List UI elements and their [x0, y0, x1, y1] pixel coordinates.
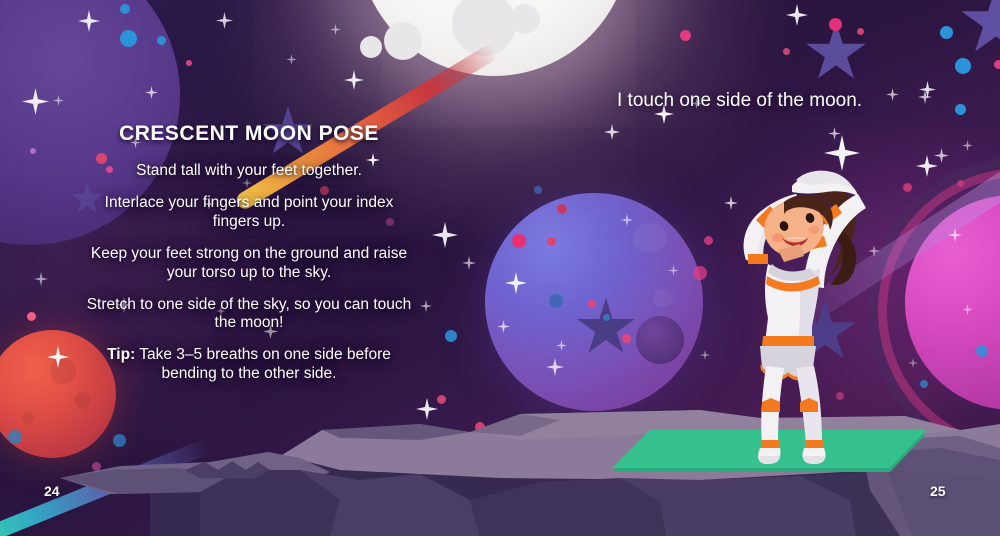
book-spread-page: CRESCENT MOON POSE Stand tall with your … [0, 0, 1000, 536]
tip-label: Tip: [107, 346, 135, 363]
pose-text-panel: CRESCENT MOON POSE Stand tall with your … [84, 122, 414, 384]
pose-instruction: Interlace your fingers and point your in… [84, 194, 414, 232]
pose-instruction: Keep your feet strong on the ground and … [84, 245, 414, 283]
page-caption: I touch one side of the moon. [617, 90, 947, 112]
pose-title: CRESCENT MOON POSE [84, 122, 414, 146]
pose-tip: Tip: Take 3–5 breaths on one side before… [84, 346, 414, 384]
waist-band [762, 336, 814, 346]
tip-text: Take 3–5 breaths on one side before bend… [135, 346, 391, 382]
yoga-character [700, 168, 890, 468]
page-number-left: 24 [44, 483, 60, 499]
pose-instruction: Stand tall with your feet together. [84, 162, 414, 181]
pose-instruction: Stretch to one side of the sky, so you c… [84, 296, 414, 334]
page-number-right: 25 [930, 483, 946, 499]
armband [748, 254, 768, 264]
